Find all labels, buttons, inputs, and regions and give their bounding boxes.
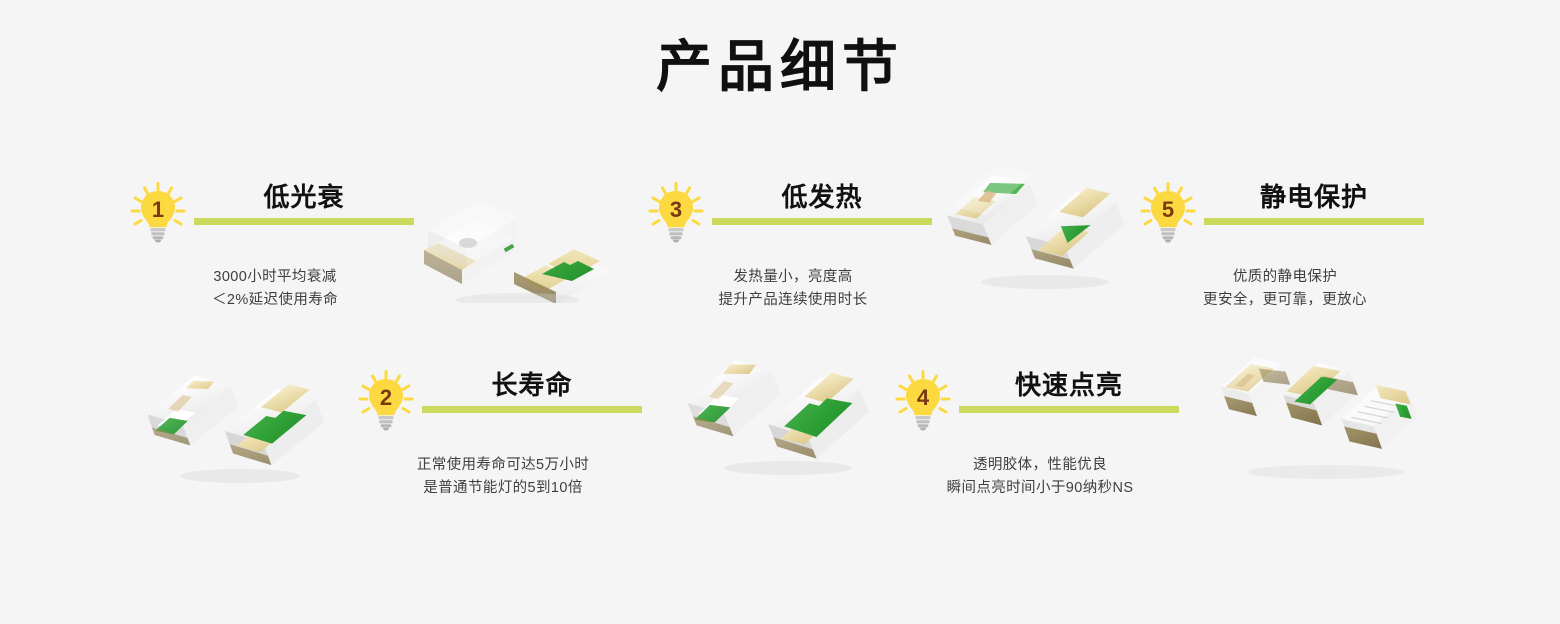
feature-block-1: 1 低光衰 3000小时平均衰减 ＜2%延迟使用寿命 [130,180,420,312]
bulb-number-2: 2 [380,385,392,410]
feature-desc-line-2b: 是普通节能灯的5到10倍 [358,477,648,500]
feature-title-2: 长寿命 [422,368,642,402]
feature-desc-line-4a: 透明胶体，性能优良 [895,454,1185,477]
product-image-led-group-5 [1218,350,1428,480]
bulb-number-4: 4 [917,385,930,410]
feature-header-3: 3 低发热 [648,180,938,248]
title-underline-2 [422,406,642,413]
feature-block-3: 3 低发热 发热量小，亮度高 提升产品连续使用时长 [648,180,938,312]
feature-desc-line-3a: 发热量小，亮度高 [648,266,938,289]
feature-description-3: 发热量小，亮度高 提升产品连续使用时长 [648,266,938,312]
page-title: 产品细节 [0,38,1560,97]
product-image-led-group-2 [945,160,1135,290]
bulb-icon-4: 4 [895,370,951,432]
feature-description-4: 透明胶体，性能优良 瞬间点亮时间小于90纳秒NS [895,454,1185,500]
feature-desc-line-5a: 优质的静电保护 [1140,266,1430,289]
bulb-icon-2: 2 [358,370,414,432]
feature-title-wrap-3: 低发热 [712,180,932,225]
title-underline-5 [1204,218,1424,225]
feature-title-wrap-5: 静电保护 [1204,180,1424,225]
bulb-icon-1: 1 [130,182,186,244]
feature-title-wrap-2: 长寿命 [422,368,642,413]
feature-description-5: 优质的静电保护 更安全，更可靠，更放心 [1140,266,1430,312]
product-image-led-group-4 [688,352,878,477]
feature-header-2: 2 长寿命 [358,368,648,436]
feature-header-5: 5 静电保护 [1140,180,1430,248]
feature-description-2: 正常使用寿命可达5万小时 是普通节能灯的5到10倍 [358,454,648,500]
product-image-led-group-3 [148,368,328,483]
feature-title-wrap-4: 快速点亮 [959,368,1179,413]
bulb-icon-5: 5 [1140,182,1196,244]
feature-desc-line-2a: 正常使用寿命可达5万小时 [358,454,648,477]
feature-desc-line-3b: 提升产品连续使用时长 [648,289,938,312]
feature-title-3: 低发热 [712,180,932,214]
product-image-led-group-1 [418,188,618,303]
feature-block-2: 2 长寿命 正常使用寿命可达5万小时 是普通节能灯的5到10倍 [358,368,648,500]
feature-header-1: 1 低光衰 [130,180,420,248]
feature-title-4: 快速点亮 [959,368,1179,402]
feature-desc-line-1b: ＜2%延迟使用寿命 [130,289,420,312]
feature-desc-line-5b: 更安全，更可靠，更放心 [1140,289,1430,312]
bulb-number-3: 3 [670,197,682,222]
bulb-number-5: 5 [1162,197,1174,222]
feature-description-1: 3000小时平均衰减 ＜2%延迟使用寿命 [130,266,420,312]
feature-title-1: 低光衰 [194,180,414,214]
feature-title-wrap-1: 低光衰 [194,180,414,225]
feature-header-4: 4 快速点亮 [895,368,1185,436]
feature-block-5: 5 静电保护 优质的静电保护 更安全，更可靠，更放心 [1140,180,1430,312]
feature-desc-line-1a: 3000小时平均衰减 [130,266,420,289]
feature-title-5: 静电保护 [1204,180,1424,214]
bulb-number-1: 1 [152,197,164,222]
bulb-icon-3: 3 [648,182,704,244]
product-detail-page: 产品细节 [0,0,1560,624]
title-underline-3 [712,218,932,225]
feature-desc-line-4b: 瞬间点亮时间小于90纳秒NS [895,477,1185,500]
title-underline-4 [959,406,1179,413]
feature-block-4: 4 快速点亮 透明胶体，性能优良 瞬间点亮时间小于90纳秒NS [895,368,1185,500]
title-underline-1 [194,218,414,225]
